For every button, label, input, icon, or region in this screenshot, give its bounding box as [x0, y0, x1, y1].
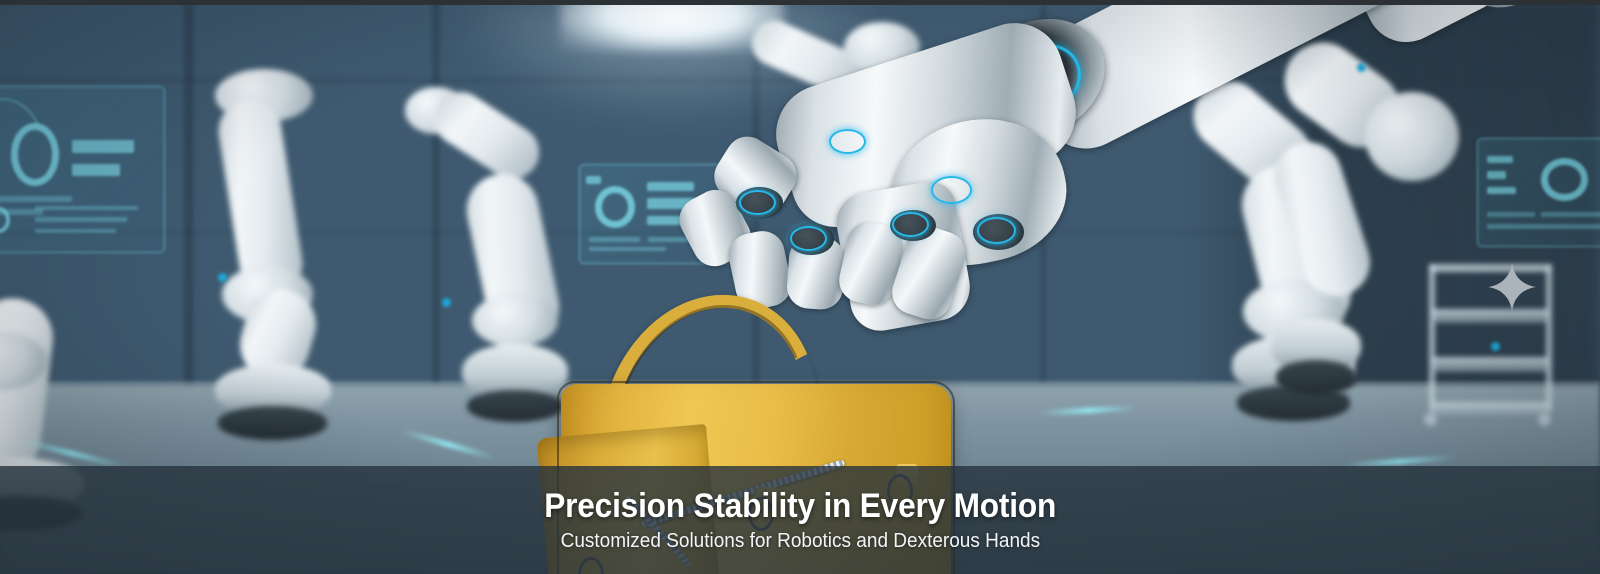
robot-arm-center: [176, 69, 352, 448]
robot-forearm-upper: [1342, 0, 1600, 55]
hero-banner: Precision Stability in Every Motion Cust…: [0, 0, 1600, 574]
sparkle-icon: [1486, 261, 1538, 313]
finger-joint-ring-6: [931, 176, 972, 204]
finger-joint-ring-4: [977, 217, 1016, 244]
page-subtitle: Customized Solutions for Robotics and De…: [560, 530, 1039, 553]
caption-overlay: Precision Stability in Every Motion Cust…: [0, 466, 1600, 574]
top-strip: [0, 0, 1600, 5]
wall-indicator-1: [218, 273, 227, 282]
finger-joint-ring-1: [739, 190, 776, 215]
hud-panel-left: [0, 86, 165, 252]
page-title: Precision Stability in Every Motion: [544, 487, 1056, 525]
finger-joint-ring-2: [790, 226, 827, 251]
